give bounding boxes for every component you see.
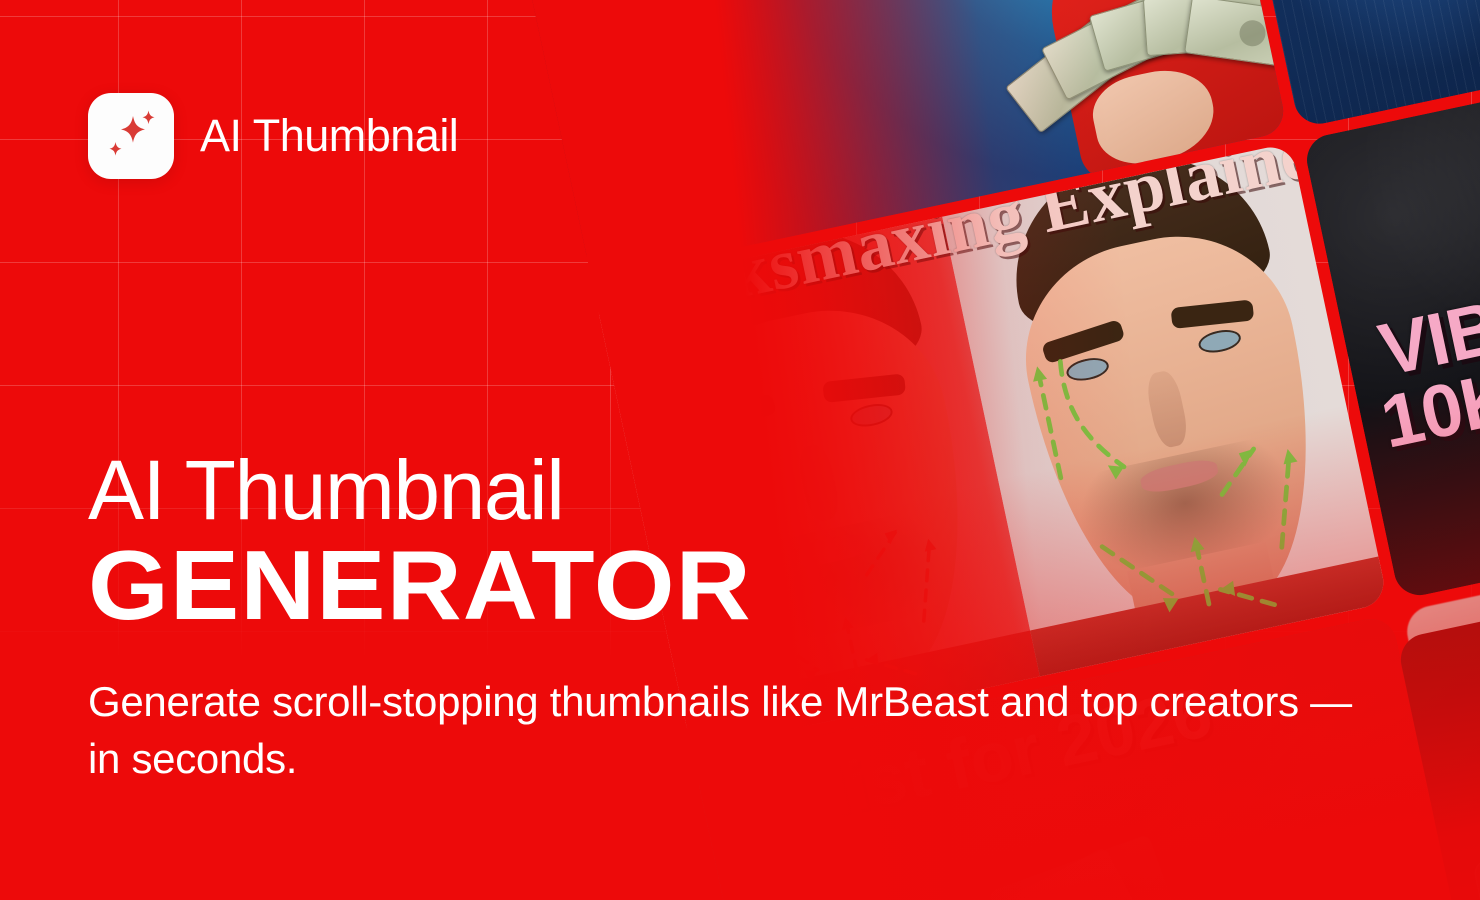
document-icon: ≡≡	[1472, 848, 1480, 900]
hero-subtitle: Generate scroll-stopping thumbnails like…	[88, 674, 1378, 787]
hero-headline-line1: AI Thumbnail	[88, 448, 1408, 532]
brand-name: AI Thumbnail	[200, 110, 458, 162]
hero-copy: AI Thumbnail GENERATOR Generate scroll-s…	[88, 448, 1408, 787]
hero-banner: Looksmaxing Explained VIBE 10K ng list f…	[0, 0, 1480, 900]
hero-headline-line2: GENERATOR	[88, 536, 1480, 634]
brand-lockup[interactable]: AI Thumbnail	[88, 93, 458, 179]
app-logo	[88, 93, 174, 179]
sparkle-icon	[103, 108, 159, 164]
